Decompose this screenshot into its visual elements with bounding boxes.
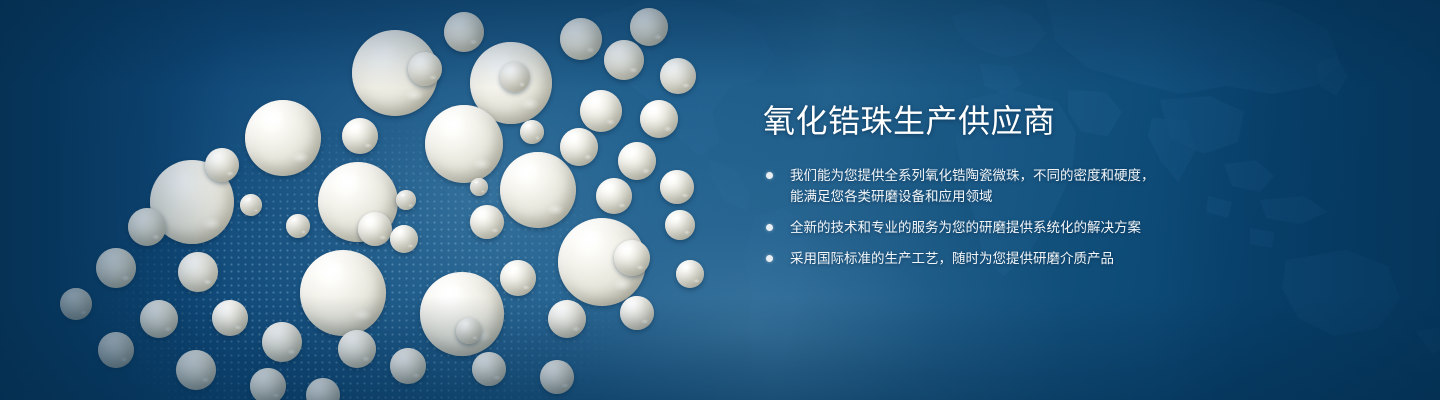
bullet-dot-icon bbox=[766, 255, 773, 262]
feature-bullet-line: 全新的技术和专业的服务为您的研磨提供系统化的解决方案 bbox=[790, 217, 1233, 238]
feature-bullet-item: 我们能为您提供全系列氧化锆陶瓷微珠，不同的密度和硬度，能满足您各类研磨设备和应用… bbox=[763, 165, 1233, 207]
feature-bullet-line: 能满足您各类研磨设备和应用领域 bbox=[790, 186, 1233, 207]
feature-bullet-item: 全新的技术和专业的服务为您的研磨提供系统化的解决方案 bbox=[763, 217, 1233, 238]
feature-bullet-list: 我们能为您提供全系列氧化锆陶瓷微珠，不同的密度和硬度，能满足您各类研磨设备和应用… bbox=[763, 165, 1233, 269]
bullet-dot-icon bbox=[766, 172, 773, 179]
banner-title: 氧化锆珠生产供应商 bbox=[763, 104, 1233, 139]
bullet-dot-icon bbox=[766, 224, 773, 231]
feature-bullet-line: 我们能为您提供全系列氧化锆陶瓷微珠，不同的密度和硬度， bbox=[790, 165, 1233, 186]
feature-bullet-line: 采用国际标准的生产工艺，随时为您提供研磨介质产品 bbox=[790, 248, 1233, 269]
hero-banner: 氧化锆珠生产供应商 我们能为您提供全系列氧化锆陶瓷微珠，不同的密度和硬度，能满足… bbox=[0, 0, 1440, 400]
feature-bullet-item: 采用国际标准的生产工艺，随时为您提供研磨介质产品 bbox=[763, 248, 1233, 269]
banner-content: 氧化锆珠生产供应商 我们能为您提供全系列氧化锆陶瓷微珠，不同的密度和硬度，能满足… bbox=[763, 104, 1233, 269]
